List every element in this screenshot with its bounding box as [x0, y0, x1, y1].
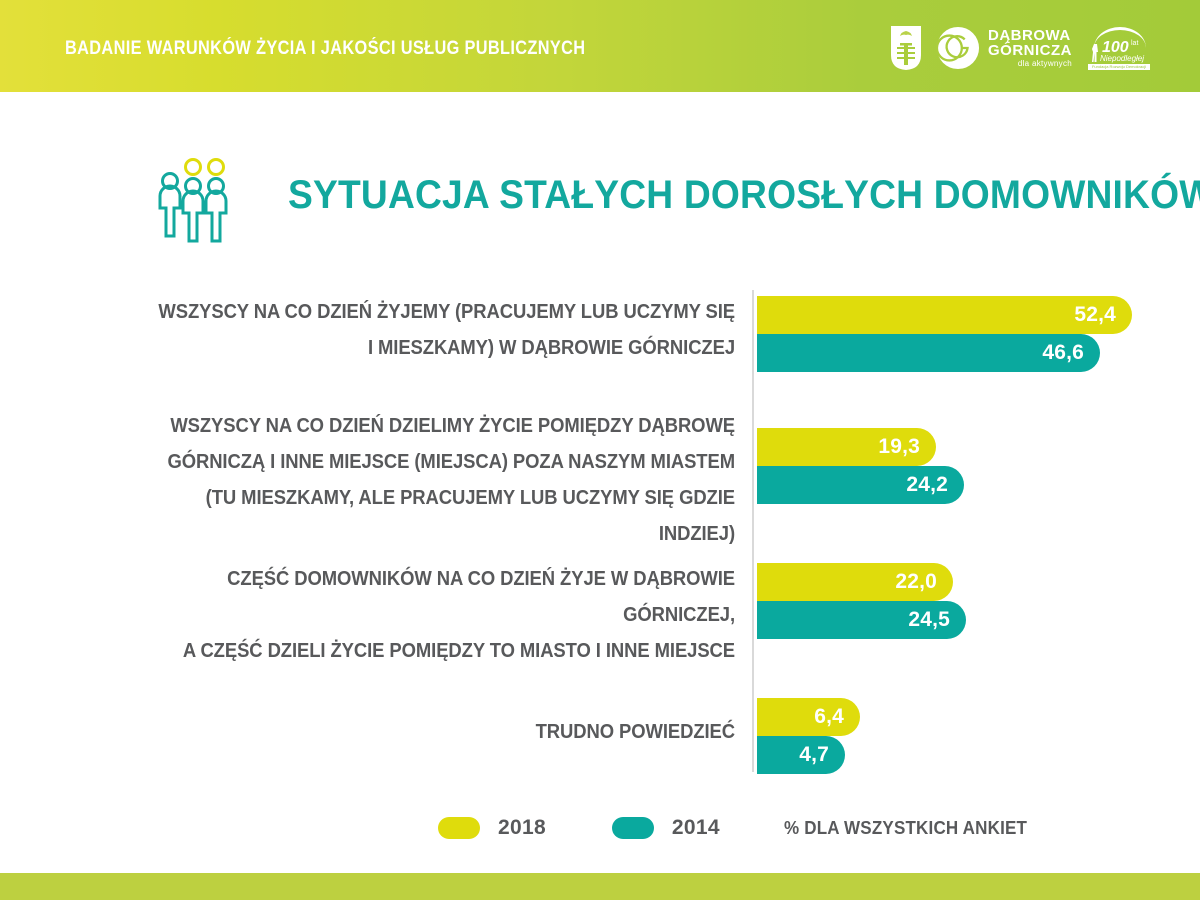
dg-tagline: dla aktywnych: [988, 60, 1072, 68]
legend-item-2018[interactable]: 2018: [438, 816, 546, 840]
row-label-line: A CZĘŚĆ DZIELI ŻYCIE POMIĘDZY TO MIASTO …: [141, 633, 735, 669]
bar-value: 52,4: [1074, 303, 1116, 327]
bar-value: 22,0: [895, 570, 937, 594]
bar-value: 46,6: [1042, 341, 1084, 365]
legend-label-2018: 2018: [498, 816, 546, 840]
chart-axis-line: [752, 290, 754, 772]
niepodlegla-unit: lat: [1131, 40, 1138, 47]
bar-chart: WSZYSCY NA CO DZIEŃ ŻYJEMY (PRACUJEMY LU…: [0, 280, 1200, 780]
header-bar: BADANIE WARUNKÓW ŻYCIA I JAKOŚCI USŁUG P…: [0, 0, 1200, 92]
bar-2014[interactable]: 4,7: [757, 736, 845, 774]
bar-2014[interactable]: 46,6: [757, 334, 1100, 372]
dg-monogram-icon: [936, 26, 980, 70]
row-label-line: GÓRNICZĄ I INNE MIEJSCE (MIEJSCA) POZA N…: [141, 444, 735, 480]
row-label-line: TRUDNO POWIEDZIEĆ: [141, 714, 735, 750]
row-bars: 52,4 46,6: [757, 296, 1132, 372]
bar-2018[interactable]: 6,4: [757, 698, 860, 736]
row-label-line: I MIESZKAMY) W DĄBROWIE GÓRNICZEJ: [141, 330, 735, 366]
page-title: SYTUACJA STAŁYCH DOROSŁYCH DOMOWNIKÓW: [288, 173, 1200, 218]
bar-2014[interactable]: 24,2: [757, 466, 964, 504]
row-bars: 19,3 24,2: [757, 428, 964, 504]
bar-value: 4,7: [799, 743, 829, 767]
coat-of-arms-logo: [890, 25, 922, 71]
bar-value: 19,3: [878, 435, 920, 459]
bar-2014[interactable]: 24,5: [757, 601, 966, 639]
row-label-line: (TU MIESZKAMY, ALE PRACUJEMY LUB UCZYMY …: [141, 480, 735, 552]
chart-legend: 2018 2014 % DLA WSZYSTKICH ANKIET: [438, 808, 1048, 848]
bar-value: 24,2: [906, 473, 948, 497]
bar-value: 6,4: [814, 705, 844, 729]
niepodlegla-footer: Fundacja Rozwoju Demokracji Lokalnej: [1088, 64, 1150, 70]
header-title: BADANIE WARUNKÓW ŻYCIA I JAKOŚCI USŁUG P…: [65, 38, 585, 60]
dabrowa-gornicza-logo: DĄBROWA GÓRNICZA dla aktywnych: [936, 26, 1072, 70]
bar-2018[interactable]: 19,3: [757, 428, 936, 466]
niepodlegla-logo: 100 lat Niepodległej Fundacja Rozwoju De…: [1086, 25, 1152, 71]
dg-line2: GÓRNICZA: [988, 43, 1072, 58]
row-label: CZĘŚĆ DOMOWNIKÓW NA CO DZIEŃ ŻYJE W DĄBR…: [141, 561, 735, 669]
row-label-line: CZĘŚĆ DOMOWNIKÓW NA CO DZIEŃ ŻYJE W DĄBR…: [141, 561, 735, 633]
legend-swatch-2018: [438, 817, 480, 839]
three-people-icon: [150, 148, 260, 243]
header-logos: DĄBROWA GÓRNICZA dla aktywnych 100 lat N…: [890, 20, 1152, 76]
bar-value: 24,5: [908, 608, 950, 632]
dg-line1: DĄBROWA: [988, 28, 1072, 43]
footer-bar: [0, 873, 1200, 900]
row-bars: 22,0 24,5: [757, 563, 966, 639]
niepodlegla-word: Niepodległej: [1100, 54, 1144, 63]
row-bars: 6,4 4,7: [757, 698, 860, 774]
row-label: TRUDNO POWIEDZIEĆ: [141, 714, 735, 750]
legend-item-2014[interactable]: 2014: [612, 816, 720, 840]
bar-2018[interactable]: 22,0: [757, 563, 953, 601]
legend-note: % DLA WSZYSTKICH ANKIET: [784, 817, 1027, 839]
legend-swatch-2014: [612, 817, 654, 839]
row-label: WSZYSCY NA CO DZIEŃ ŻYJEMY (PRACUJEMY LU…: [141, 294, 735, 366]
row-label-line: WSZYSCY NA CO DZIEŃ ŻYJEMY (PRACUJEMY LU…: [141, 294, 735, 330]
dg-wordmark: DĄBROWA GÓRNICZA dla aktywnych: [988, 28, 1072, 69]
legend-label-2014: 2014: [672, 816, 720, 840]
bar-2018[interactable]: 52,4: [757, 296, 1132, 334]
row-label: WSZYSCY NA CO DZIEŃ DZIELIMY ŻYCIE POMIĘ…: [141, 408, 735, 552]
section-title-row: SYTUACJA STAŁYCH DOROSŁYCH DOMOWNIKÓW: [150, 145, 1200, 245]
crest-icon: [890, 25, 922, 71]
row-label-line: WSZYSCY NA CO DZIEŃ DZIELIMY ŻYCIE POMIĘ…: [141, 408, 735, 444]
